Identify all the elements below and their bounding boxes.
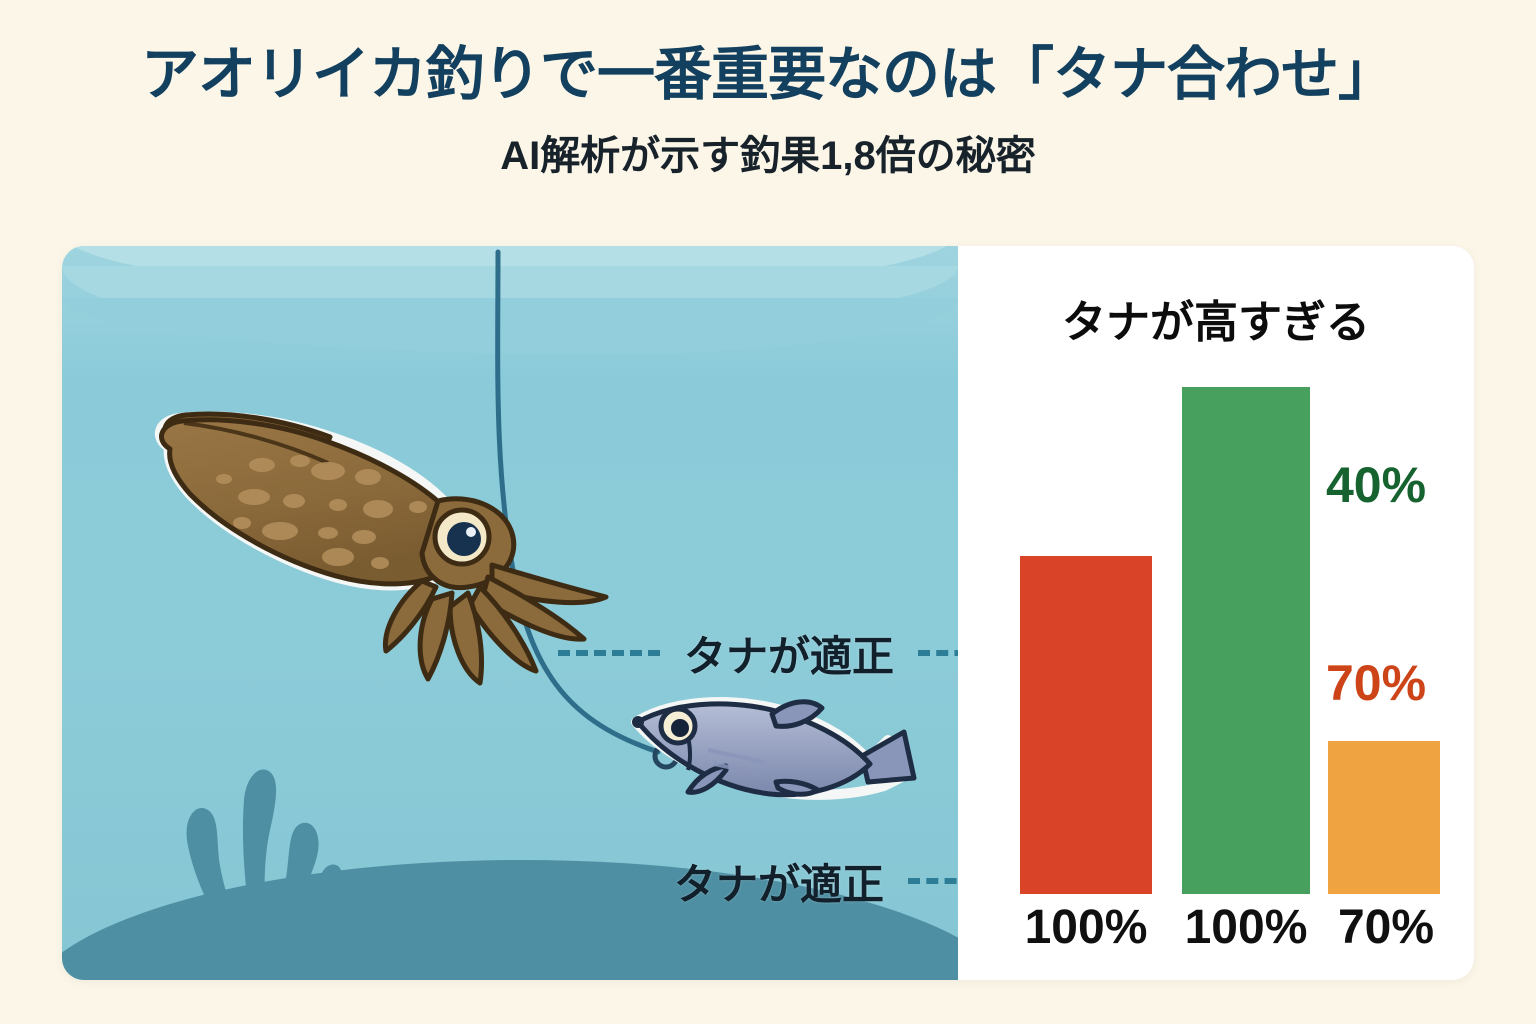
chart-title: タナが高すぎる	[958, 286, 1474, 350]
page-subtitle: AI解析が示す釣果1,8倍の秘密	[0, 123, 1536, 181]
dash-connector-left	[558, 650, 660, 656]
bar-value-callout-orange: 70%	[1326, 654, 1426, 712]
page-header: アオリイカ釣りで一番重要なのは「タナ合わせ」 AI解析が示す釣果1,8倍の秘密	[0, 0, 1536, 181]
bar-axis-label-1: 100%	[1006, 900, 1166, 955]
infographic-card: タナが適正 タナが適正 もち低すぎる タナが高すぎる 100% 100%	[62, 246, 1474, 980]
bar-column-3	[1328, 366, 1440, 894]
bar-rect-2[interactable]	[1182, 387, 1310, 894]
bar-chart: 100% 100% 70% 40% 70%	[1006, 366, 1426, 894]
squid-icon	[132, 361, 612, 711]
bar-column-1	[1020, 366, 1152, 894]
chart-panel: タナが高すぎる 100% 100% 70% 40% 70%	[958, 246, 1474, 980]
bar-axis-label-2: 100%	[1168, 900, 1324, 955]
bar-axis-label-3: 70%	[1324, 900, 1448, 955]
bar-rect-3[interactable]	[1328, 741, 1440, 894]
bar-column-2	[1182, 366, 1310, 894]
bar-value-callout-green: 40%	[1326, 456, 1426, 514]
page-title: アオリイカ釣りで一番重要なのは「タナ合わせ」	[0, 44, 1536, 107]
depth-label-correct-upper: タナが適正	[684, 623, 894, 684]
depth-label-correct-lower: タナが適正	[674, 851, 884, 912]
bar-rect-1[interactable]	[1020, 556, 1152, 894]
fish-icon	[622, 678, 922, 818]
